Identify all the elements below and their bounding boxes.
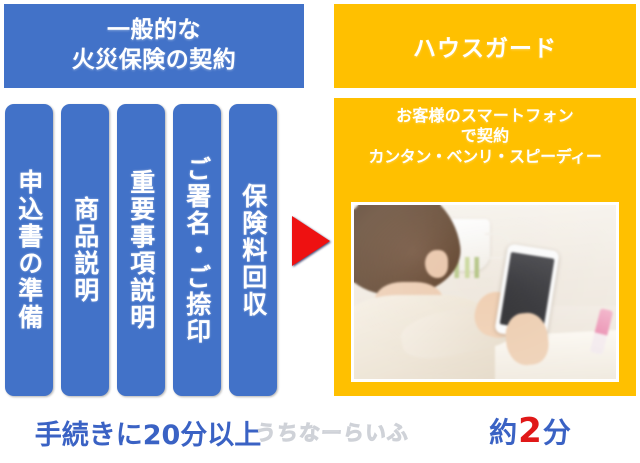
woman-using-smartphone-photo xyxy=(354,205,616,379)
houseguard-panel: お客様のスマートフォン で契約 カンタン・ベンリ・スピーディー xyxy=(334,98,636,396)
houseguard-caption-line2: で契約 xyxy=(334,126,636,146)
step-column-premium-collection: 保険料回収 xyxy=(229,104,277,396)
smartphone-photo-frame xyxy=(351,202,619,382)
step-label: 申込書の準備 xyxy=(16,169,42,331)
photo-soft-overlay xyxy=(354,205,616,379)
houseguard-duration-suffix: 分 xyxy=(543,411,571,451)
step-column-signature-seal: ご署名・ご捺印 xyxy=(173,104,221,396)
houseguard-caption-line3: カンタン・ベンリ・スピーディー xyxy=(334,147,636,167)
step-column-application-prep: 申込書の準備 xyxy=(5,104,53,396)
houseguard-header: ハウスガード xyxy=(334,4,636,88)
step-column-important-matters: 重要事項説明 xyxy=(117,104,165,396)
step-label: 重要事項説明 xyxy=(128,169,154,331)
step-label: ご署名・ご捺印 xyxy=(184,156,210,345)
houseguard-header-label: ハウスガード xyxy=(413,29,557,63)
traditional-flow-duration: 手続きに20分以上 xyxy=(32,415,264,449)
houseguard-caption: お客様のスマートフォン で契約 カンタン・ベンリ・スピーディー xyxy=(334,106,636,167)
traditional-flow-header-line1: 一般的な xyxy=(107,16,201,46)
step-column-product-explanation: 商品説明 xyxy=(61,104,109,396)
traditional-flow-steps: 申込書の準備 商品説明 重要事項説明 ご署名・ご捺印 保険料回収 xyxy=(5,104,305,396)
traditional-flow-header-line2: 火災保険の契約 xyxy=(72,46,237,76)
houseguard-caption-line1: お客様のスマートフォン xyxy=(334,106,636,126)
traditional-flow-header: 一般的な 火災保険の契約 xyxy=(4,4,304,88)
watermark-label: うちなーらいふ xyxy=(254,417,410,447)
houseguard-duration-number: 2 xyxy=(517,411,543,451)
watermark: うちなーらいふ xyxy=(263,417,401,447)
infographic-canvas: 一般的な 火災保険の契約 申込書の準備 商品説明 重要事項説明 ご署名・ご捺印 … xyxy=(0,0,640,463)
step-label: 商品説明 xyxy=(72,196,98,304)
step-label: 保険料回収 xyxy=(240,183,266,318)
houseguard-duration-prefix: 約 xyxy=(489,411,517,451)
right-triangle-arrow-icon xyxy=(292,216,330,266)
houseguard-duration: 約 2 分 xyxy=(440,413,620,449)
traditional-flow-duration-label: 手続きに20分以上 xyxy=(35,413,262,452)
